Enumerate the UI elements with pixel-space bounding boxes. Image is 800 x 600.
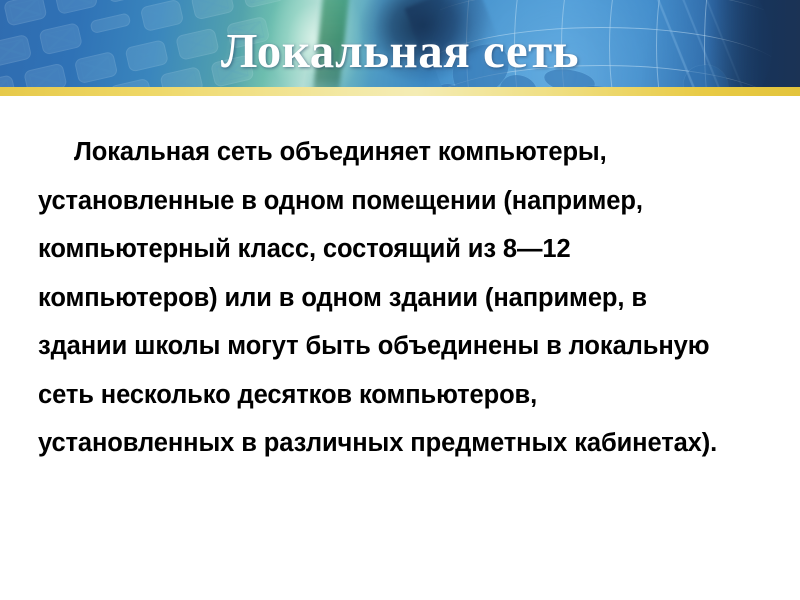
- header-banner: Локальная сеть: [0, 0, 800, 87]
- slide-root: Локальная сеть Локальная сеть объединяет…: [0, 0, 800, 600]
- content-paragraph: Локальная сеть объединяет компьютеры, ус…: [38, 128, 738, 468]
- page-title: Локальная сеть: [0, 22, 800, 80]
- gold-rule-divider: [0, 87, 800, 96]
